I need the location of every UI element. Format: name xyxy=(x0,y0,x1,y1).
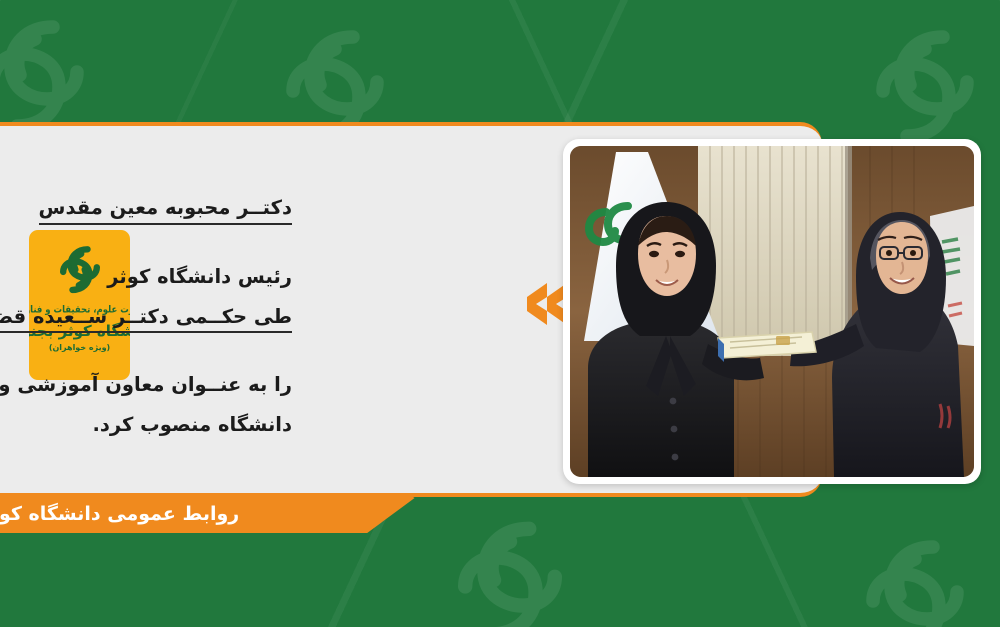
announcement-line-text: رئیس دانشگاه کوثر xyxy=(107,265,292,288)
announcement-line-text: دکتــر محبوبه معین مقدس xyxy=(39,198,292,225)
public-relations-label: روابط عمومی دانشگاه کوثر xyxy=(0,503,239,525)
announcement-line: را به عنــوان معاون آموزشی و پژوهشی xyxy=(0,375,292,395)
announcement-line: رئیس دانشگاه کوثر xyxy=(0,267,292,287)
public-relations-ribbon: روابط عمومی دانشگاه کوثر xyxy=(0,494,420,533)
announcement-line: دانشگاه منصوب کرد. xyxy=(0,415,292,435)
announcement-line-text: طی حکــمی دکتــر ســعیده قضــایی xyxy=(0,307,292,334)
announcement-text: دکتــر محبوبه معین مقدس رئیس دانشگاه کوث… xyxy=(0,198,292,435)
announcement-line: طی حکــمی دکتــر ســعیده قضــایی xyxy=(0,307,292,356)
announcement-line-text: را به عنــوان معاون آموزشی و پژوهشی xyxy=(0,373,292,396)
poster-canvas: وزارت علوم، تحقیقات و فناوری دانشگاه کوث… xyxy=(0,0,1000,627)
announcement-line-text: دانشگاه منصوب کرد. xyxy=(92,413,292,436)
double-chevron-left-icon xyxy=(527,281,567,327)
ceremony-photo xyxy=(570,146,974,477)
ceremony-photo-frame xyxy=(563,139,981,484)
announcement-line: دکتــر محبوبه معین مقدس xyxy=(0,198,292,247)
